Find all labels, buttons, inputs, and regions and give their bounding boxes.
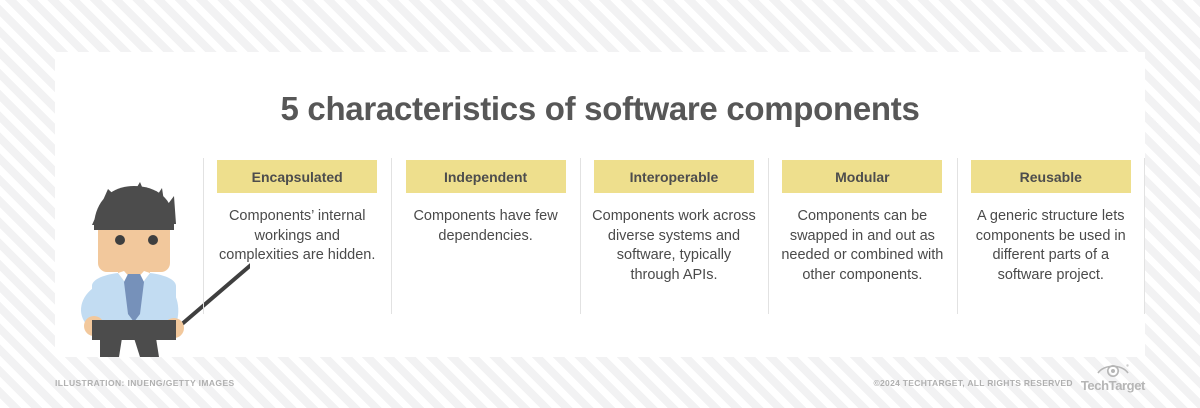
column-independent: Independent Components have few dependen… [391, 160, 579, 320]
illustration-credit: ILLUSTRATION: INUENG/GETTY IMAGES [55, 378, 235, 388]
column-body-encapsulated: Components’ internal workings and comple… [215, 207, 379, 266]
column-body-modular: Components can be swapped in and out as … [780, 207, 944, 285]
characteristics-columns: Encapsulated Components’ internal workin… [203, 160, 1145, 320]
column-body-interoperable: Components work across diverse systems a… [592, 207, 756, 285]
belt-shape [92, 320, 176, 340]
column-reusable: Reusable A generic structure lets compon… [957, 160, 1145, 320]
column-header-encapsulated: Encapsulated [217, 160, 377, 193]
column-header-independent: Independent [406, 160, 566, 193]
column-header-reusable: Reusable [971, 160, 1131, 193]
footer-brand-area: ©2024 TECHTARGET, ALL RIGHTS RESERVED Te… [873, 362, 1145, 392]
column-header-interoperable: Interoperable [594, 160, 754, 193]
eye-right-icon [148, 235, 158, 245]
infographic-canvas: 5 characteristics of software components [0, 0, 1200, 408]
leg-right-shape [134, 338, 162, 357]
column-interoperable: Interoperable Components work across div… [580, 160, 768, 320]
leg-left-shape [100, 338, 122, 357]
eye-left-icon [115, 235, 125, 245]
copyright-text: ©2024 TECHTARGET, ALL RIGHTS RESERVED [873, 378, 1072, 392]
techtarget-wordmark: TechTarget [1081, 379, 1145, 392]
content-card: 5 characteristics of software components [55, 52, 1145, 357]
column-encapsulated: Encapsulated Components’ internal workin… [203, 160, 391, 320]
column-header-modular: Modular [782, 160, 942, 193]
eye-icon [1096, 362, 1130, 378]
column-body-independent: Components have few dependencies. [403, 207, 567, 246]
column-modular: Modular Components can be swapped in and… [768, 160, 956, 320]
techtarget-logo: TechTarget [1081, 362, 1145, 392]
column-body-reusable: A generic structure lets components be u… [969, 207, 1133, 285]
page-title: 5 characteristics of software components [55, 90, 1145, 128]
